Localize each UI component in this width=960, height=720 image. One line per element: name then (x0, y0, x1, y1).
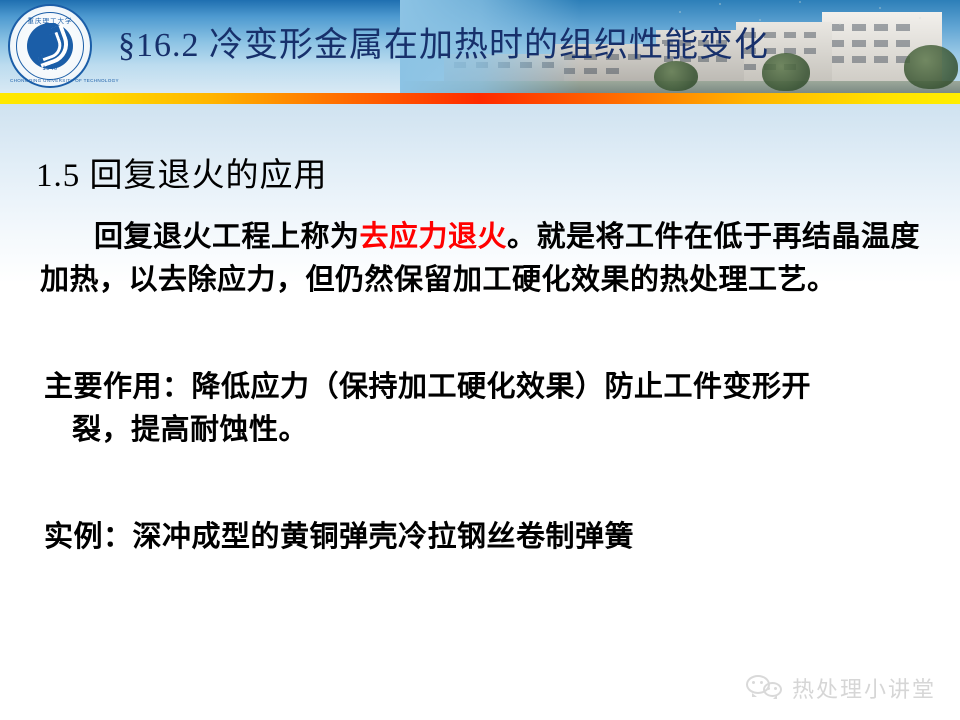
slide-body: 1.5 回复退火的应用 回复退火工程上称为去应力退火。就是将工件在低于再结晶温度… (0, 104, 960, 720)
slide-header-banner: 重庆理工大学 1940 CHONGQING UNIVERSITY OF TECH… (0, 0, 960, 93)
definition-highlight: 去应力退火 (360, 221, 508, 253)
presentation-slide: 重庆理工大学 1940 CHONGQING UNIVERSITY OF TECH… (0, 0, 960, 720)
paragraph-definition: 回复退火工程上称为去应力退火。就是将工件在低于再结晶温度加热，以去除应力，但仍然… (40, 216, 930, 302)
definition-text-part1: 回复退火工程上称为 (94, 221, 360, 253)
page-title: §16.2 冷变形金属在加热时的组织性能变化 (118, 24, 769, 68)
header-accent-bar (0, 93, 960, 104)
main-effect-line1: 主要作用：降低应力（保持加工硬化效果）防止工件变形开 (44, 371, 811, 403)
seal-core (27, 23, 73, 69)
paragraph-example: 实例：深冲成型的黄铜弹壳冷拉钢丝卷制弹簧 (44, 516, 930, 559)
watermark-label: 热处理小讲堂 (792, 672, 936, 704)
channel-watermark: 热处理小讲堂 (746, 672, 936, 704)
seal-bottom-text: CHONGQING UNIVERSITY OF TECHNOLOGY (10, 78, 90, 83)
main-effect-line2: 裂，提高耐蚀性。 (44, 409, 930, 452)
paragraph-main-effect: 主要作用：降低应力（保持加工硬化效果）防止工件变形开 裂，提高耐蚀性。 (44, 366, 930, 452)
seal-year: 1940 (10, 66, 90, 72)
university-seal-logo: 重庆理工大学 1940 CHONGQING UNIVERSITY OF TECH… (8, 4, 92, 88)
section-heading: 1.5 回复退火的应用 (36, 156, 328, 196)
wechat-icon (746, 675, 782, 701)
